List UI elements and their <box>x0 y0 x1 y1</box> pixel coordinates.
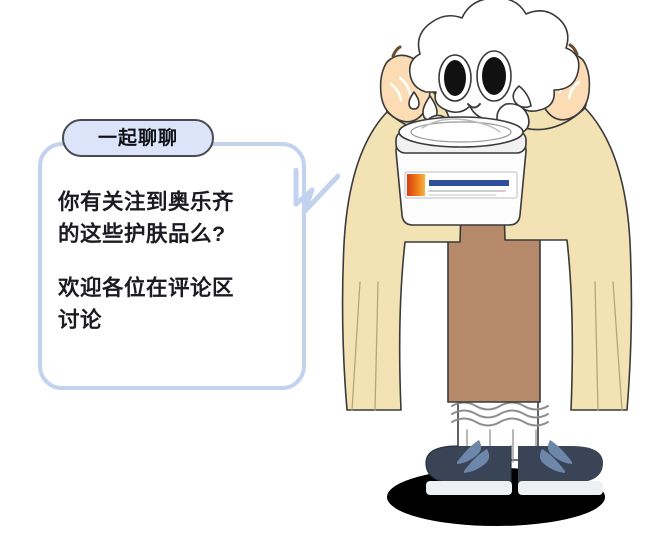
bubble-line: 讨论 <box>58 304 294 336</box>
shoe-left <box>426 440 512 495</box>
topic-badge-label: 一起聊聊 <box>98 129 178 148</box>
illustration-canvas: 一起聊聊 你有关注到奥乐齐 的这些护肤品么? 欢迎各位在评论区 讨论 <box>0 0 660 541</box>
character-svg <box>330 0 660 541</box>
bubble-text-body: 你有关注到奥乐齐 的这些护肤品么? 欢迎各位在评论区 讨论 <box>58 186 294 336</box>
bubble-line: 你有关注到奥乐齐 <box>58 186 294 218</box>
character-illustration <box>330 0 660 541</box>
label-orange-block <box>407 174 425 196</box>
cream-jar <box>396 117 526 225</box>
label-blue-bar <box>429 180 509 186</box>
bubble-line: 的这些护肤品么? <box>58 218 294 250</box>
topic-badge: 一起聊聊 <box>62 119 214 157</box>
paragraph-gap <box>58 250 294 272</box>
bubble-line: 欢迎各位在评论区 <box>58 272 294 304</box>
shoe-right <box>518 440 603 495</box>
